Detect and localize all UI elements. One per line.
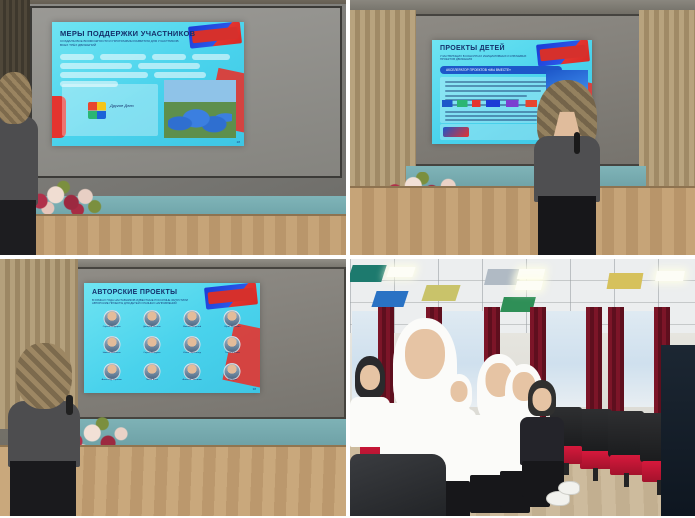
student-face xyxy=(533,388,552,411)
avatar xyxy=(184,310,201,327)
microphone-icon xyxy=(574,132,580,154)
slide-subtitle: В РАМКАХ ГОДА НАСТАВНИКОВ ИЗВЕСТНЫЕ РОСС… xyxy=(92,299,204,306)
avatar xyxy=(224,310,241,327)
slide-subtitle: УЧАСТВУЮЩИХ В КОНКУРСАХ ИНИЦИАТИВНЫХ И К… xyxy=(440,55,536,62)
student-torso xyxy=(350,397,390,447)
portrait-cell: Юлия Пересильд xyxy=(173,335,212,360)
ceiling-accent-tile xyxy=(371,291,408,307)
portrait-cell: Дмитрий Маслов xyxy=(132,309,171,334)
chair-back xyxy=(608,411,644,457)
ceiling-accent-tile xyxy=(607,273,644,289)
person-name: Александр Карелин xyxy=(92,379,131,382)
chair-seat xyxy=(610,455,644,475)
avatar xyxy=(103,336,120,353)
audience-student xyxy=(442,377,476,473)
slide-title: ПРОЕКТЫ ДЕТЕЙ xyxy=(440,45,505,52)
logo-label: Другое Дело xyxy=(110,104,134,109)
ceiling-accent-tile xyxy=(350,265,387,282)
ceiling-light-panel xyxy=(655,271,685,281)
avatar xyxy=(103,363,120,380)
movement-badge-icon xyxy=(188,22,242,49)
audience-student xyxy=(520,383,564,499)
ceiling-accent-tile xyxy=(421,285,460,301)
support-pill xyxy=(60,63,132,69)
stage-front-panel xyxy=(350,186,695,255)
support-pill xyxy=(192,54,230,60)
auditorium-chair xyxy=(578,409,612,481)
shoe xyxy=(558,481,580,495)
portrait-cell: Никита Михалков xyxy=(92,335,131,360)
speaker-skirt xyxy=(538,196,596,255)
portrait-cell: Юрий Волошин xyxy=(213,309,252,334)
support-pill xyxy=(138,63,200,69)
support-pill xyxy=(60,72,148,78)
ceiling-light-panel xyxy=(515,281,543,290)
support-pill xyxy=(152,54,186,60)
auditorium-chair xyxy=(608,411,644,487)
portrait-cell: Михаил Боярский xyxy=(173,309,212,334)
slide-page-number: 28 xyxy=(237,140,240,144)
avatar xyxy=(184,336,201,353)
author-portrait-grid: Сергей Бондарев Дмитрий Маслов Михаил Бо… xyxy=(92,309,252,387)
slide-photo xyxy=(164,80,236,138)
person-name: Татьяна Навка xyxy=(213,352,252,355)
movement-badge-icon xyxy=(204,283,258,310)
movement-logo-icon xyxy=(443,127,469,137)
speaker-torso xyxy=(0,116,38,206)
person-name: Михаил Боярский xyxy=(173,326,212,329)
slide-subtitle: СОЗДАНЫ ВСЕ ВОЗМОЖНОСТИ И ПРОГРАММЫ РАЗВ… xyxy=(60,40,190,48)
support-pill xyxy=(60,54,94,60)
panel-top-left: МЕРЫ ПОДДЕРЖКИ УЧАСТНИКОВ СОЗДАНЫ ВСЕ ВО… xyxy=(0,0,346,255)
support-pill xyxy=(100,54,146,60)
person-name: Никита Михалков xyxy=(92,352,131,355)
chair-leg xyxy=(624,473,629,487)
drugoe-delo-logo-icon xyxy=(88,102,106,119)
person-name: Юлия Пересильд xyxy=(173,352,212,355)
chair-leg xyxy=(593,468,598,481)
avatar xyxy=(103,310,120,327)
presentation-slide-1: МЕРЫ ПОДДЕРЖКИ УЧАСТНИКОВ СОЗДАНЫ ВСЕ ВО… xyxy=(52,22,244,146)
panel-bottom-left: АВТОРСКИЕ ПРОЕКТЫ В РАМКАХ ГОДА НАСТАВНИ… xyxy=(0,259,346,516)
chair-leg xyxy=(564,463,569,475)
person-name: Алексей Олесинин xyxy=(173,379,212,382)
microphone-icon xyxy=(66,395,73,415)
avatar xyxy=(224,336,241,353)
panel-top-right: ПРОЕКТЫ ДЕТЕЙ УЧАСТВУЮЩИХ В КОНКУРСАХ ИН… xyxy=(350,0,695,255)
speaker-figure xyxy=(532,84,602,255)
photo-collage: МЕРЫ ПОДДЕРЖКИ УЧАСТНИКОВ СОЗДАНЫ ВСЕ ВО… xyxy=(0,0,695,518)
portrait-cell: Сергей Безруков xyxy=(132,335,171,360)
portrait-cell: Александр Карелин xyxy=(92,362,131,387)
speaker-skirt xyxy=(0,200,36,255)
ceiling-light-panel xyxy=(386,267,415,277)
person-name: Валерия xyxy=(213,379,252,382)
person-name: Сергей Бондарев xyxy=(92,326,131,329)
person-name: Дмитрий Маслов xyxy=(132,326,171,329)
avatar xyxy=(143,336,160,353)
chair-back xyxy=(578,409,612,452)
portrait-cell: Валерия xyxy=(213,362,252,387)
slide-info-card: Другое Дело xyxy=(62,84,158,136)
ceiling-light-panel xyxy=(517,269,545,279)
speaker-headscarf xyxy=(0,72,32,124)
student-face xyxy=(360,365,380,390)
slide-title: АВТОРСКИЕ ПРОЕКТЫ xyxy=(92,289,177,296)
speaker-headscarf xyxy=(16,343,72,409)
speaker-figure xyxy=(0,72,40,255)
student-torso xyxy=(442,409,476,451)
curtain-right xyxy=(639,10,695,200)
speaker-figure xyxy=(6,343,82,516)
movement-badge-icon xyxy=(536,40,590,67)
person-name: Павел Воля xyxy=(132,379,171,382)
presentation-slide-3: АВТОРСКИЕ ПРОЕКТЫ В РАМКАХ ГОДА НАСТАВНИ… xyxy=(84,283,260,393)
student-torso xyxy=(520,417,564,465)
slide-title: МЕРЫ ПОДДЕРЖКИ УЧАСТНИКОВ xyxy=(60,29,195,38)
avatar xyxy=(143,310,160,327)
foreground-person-silhouette xyxy=(661,345,695,516)
person-name: Юрий Волошин xyxy=(213,326,252,329)
person-name: Сергей Безруков xyxy=(132,352,171,355)
curtain xyxy=(586,307,602,419)
foreground-bag xyxy=(350,454,446,516)
panel-bottom-right xyxy=(350,259,695,516)
support-pill xyxy=(154,72,206,78)
avatar xyxy=(143,363,160,380)
avatar xyxy=(224,363,241,380)
student-face xyxy=(451,381,468,402)
speaker-torso xyxy=(534,136,600,202)
accelerator-bar-label: АКСЕЛЕРАТОР ПРОЕКТОВ «МЫ ВМЕСТЕ» xyxy=(446,68,511,72)
curtain xyxy=(608,307,624,419)
student-face xyxy=(405,329,445,379)
stage-front-panel xyxy=(0,214,346,255)
portrait-cell: Павел Воля xyxy=(132,362,171,387)
avatar xyxy=(184,363,201,380)
portrait-cell: Алексей Олесинин xyxy=(173,362,212,387)
slide-page-number: 38 xyxy=(253,387,256,391)
portrait-cell: Сергей Бондарев xyxy=(92,309,131,334)
portrait-cell: Татьяна Навка xyxy=(213,335,252,360)
speaker-skirt xyxy=(10,461,76,516)
accelerator-bar: АКСЕЛЕРАТОР ПРОЕКТОВ «МЫ ВМЕСТЕ» xyxy=(440,66,562,74)
